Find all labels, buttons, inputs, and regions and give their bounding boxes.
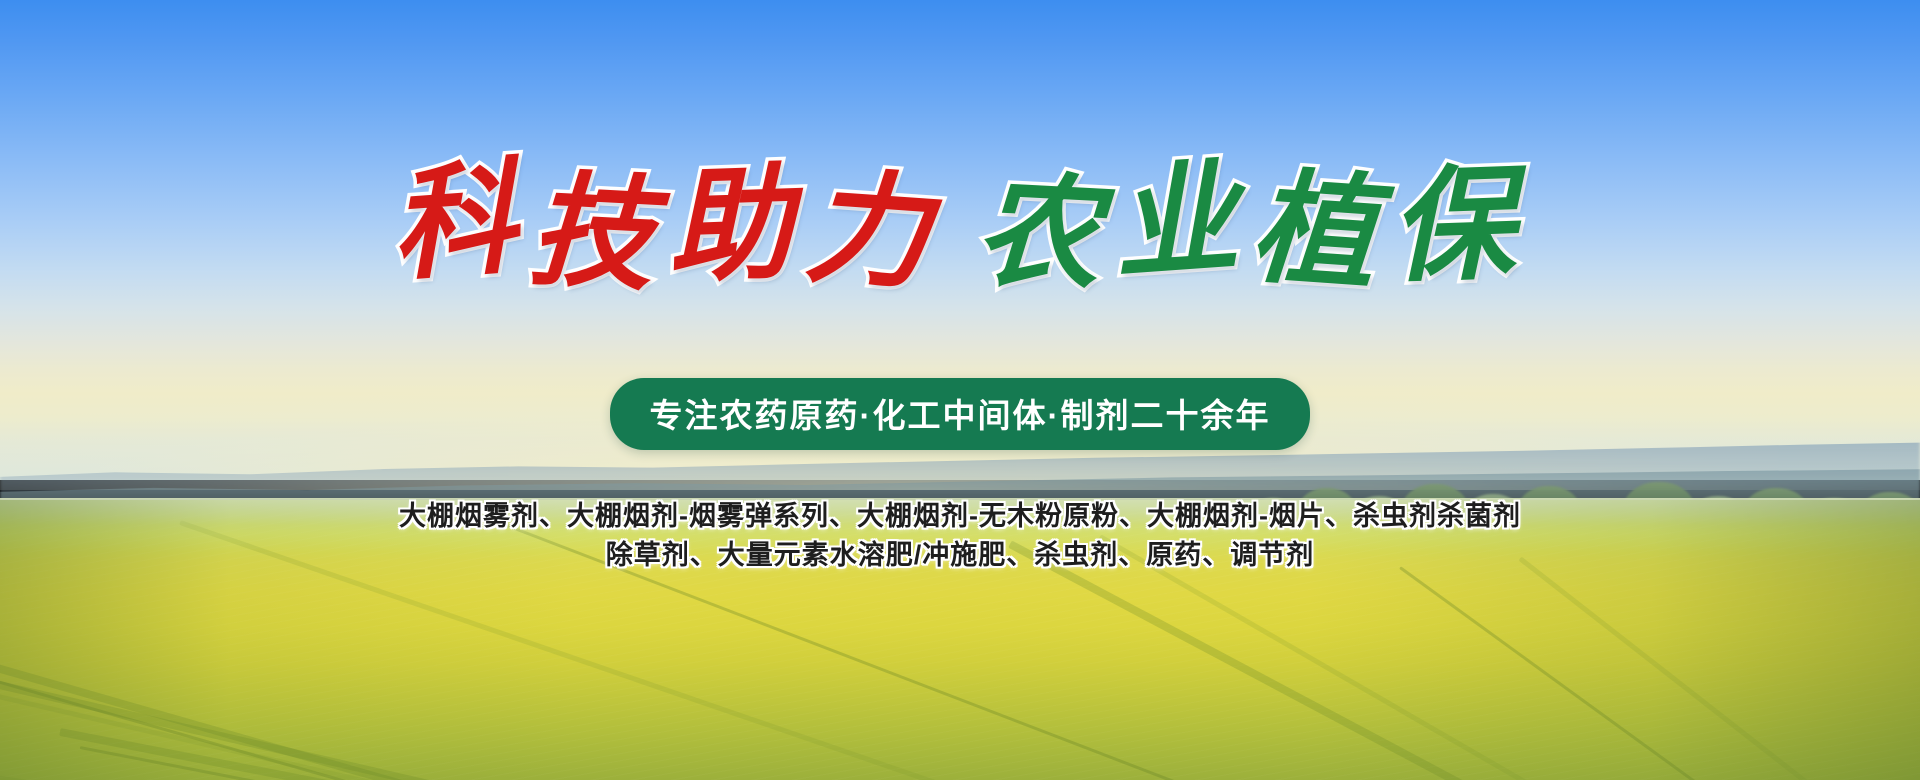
product-line-2: 除草剂、大量元素水溶肥/冲施肥、杀虫剂、原药、调节剂 <box>0 536 1920 575</box>
headline-char: 业 <box>1109 155 1255 288</box>
promotional-banner: 科技助力 农业植保 专注农药原药·化工中间体·制剂二十余年 大棚烟雾剂、大棚烟剂… <box>0 0 1920 780</box>
banner-content: 科技助力 农业植保 专注农药原药·化工中间体·制剂二十余年 大棚烟雾剂、大棚烟剂… <box>0 0 1920 780</box>
headline-char: 农 <box>973 168 1117 299</box>
headline-char: 保 <box>1388 162 1530 291</box>
headline-char: 植 <box>1248 165 1394 298</box>
headline-char: 技 <box>527 168 671 299</box>
headline-char: 助 <box>666 162 808 291</box>
product-description: 大棚烟雾剂、大棚烟剂-烟雾弹系列、大棚烟剂-无木粉原粉、大棚烟剂-烟片、杀虫剂杀… <box>0 497 1920 575</box>
headline-char: 科 <box>387 155 533 288</box>
tagline-badge: 专注农药原药·化工中间体·制剂二十余年 <box>610 378 1311 450</box>
headline-red-text: 科技助力 <box>392 168 944 292</box>
headline-char: 力 <box>802 165 948 298</box>
headline-green-text: 农业植保 <box>976 168 1528 292</box>
product-line-1: 大棚烟雾剂、大棚烟剂-烟雾弹系列、大棚烟剂-无木粉原粉、大棚烟剂-烟片、杀虫剂杀… <box>0 497 1920 536</box>
tagline-badge-row: 专注农药原药·化工中间体·制剂二十余年 <box>0 378 1920 450</box>
headline: 科技助力 农业植保 <box>0 168 1920 292</box>
